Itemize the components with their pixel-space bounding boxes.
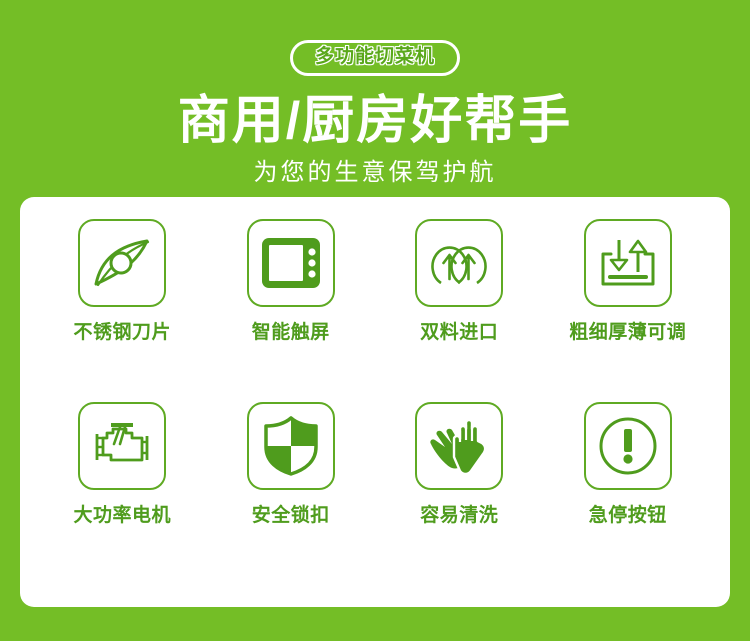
feature-label: 双料进口 <box>420 321 498 345</box>
feature-item-easy-clean: 容易清洗 <box>375 402 544 585</box>
emergency-stop-icon <box>597 415 659 477</box>
product-category-badge: 多功能切菜机 <box>290 40 460 76</box>
product-feature-banner: 多功能切菜机 商用/厨房好帮手 为您的生意保驾护航 不锈钢刀片 <box>0 0 750 641</box>
gloves-icon <box>426 415 492 477</box>
feature-label: 大功率电机 <box>73 504 171 528</box>
feature-label: 不锈钢刀片 <box>73 321 171 345</box>
blade-icon <box>91 234 153 292</box>
feature-item-double-import: 双料进口 <box>375 219 544 402</box>
banner-header: 多功能切菜机 商用/厨房好帮手 为您的生意保驾护航 <box>0 0 750 188</box>
icon-frame <box>247 402 335 490</box>
page-subtitle: 为您的生意保驾护航 <box>0 158 750 188</box>
feature-item-emergency-stop: 急停按钮 <box>544 402 713 585</box>
double-import-icon <box>427 238 491 288</box>
motor-icon <box>89 420 155 472</box>
icon-frame <box>78 219 166 307</box>
feature-item-motor: 大功率电机 <box>38 402 207 585</box>
shield-lock-icon <box>263 416 319 476</box>
icon-frame <box>584 402 672 490</box>
feature-item-blade: 不锈钢刀片 <box>38 219 207 402</box>
feature-item-thickness: 粗细厚薄可调 <box>544 219 713 402</box>
feature-label: 智能触屏 <box>252 321 330 345</box>
icon-frame <box>415 219 503 307</box>
feature-label: 粗细厚薄可调 <box>569 321 686 345</box>
icon-frame <box>415 402 503 490</box>
icon-frame <box>584 219 672 307</box>
feature-card: 不锈钢刀片 智能触屏 <box>20 197 730 607</box>
feature-item-touchscreen: 智能触屏 <box>207 219 376 402</box>
page-title: 商用/厨房好帮手 <box>0 92 750 150</box>
feature-label: 急停按钮 <box>589 504 667 528</box>
feature-item-safety-lock: 安全锁扣 <box>207 402 376 585</box>
icon-frame <box>247 219 335 307</box>
feature-label: 安全锁扣 <box>252 504 330 528</box>
feature-label: 容易清洗 <box>420 504 498 528</box>
icon-frame <box>78 402 166 490</box>
badge-row: 多功能切菜机 <box>0 40 750 76</box>
feature-grid: 不锈钢刀片 智能触屏 <box>20 197 730 607</box>
touchscreen-icon <box>260 236 322 290</box>
thickness-adjust-icon <box>597 234 659 292</box>
